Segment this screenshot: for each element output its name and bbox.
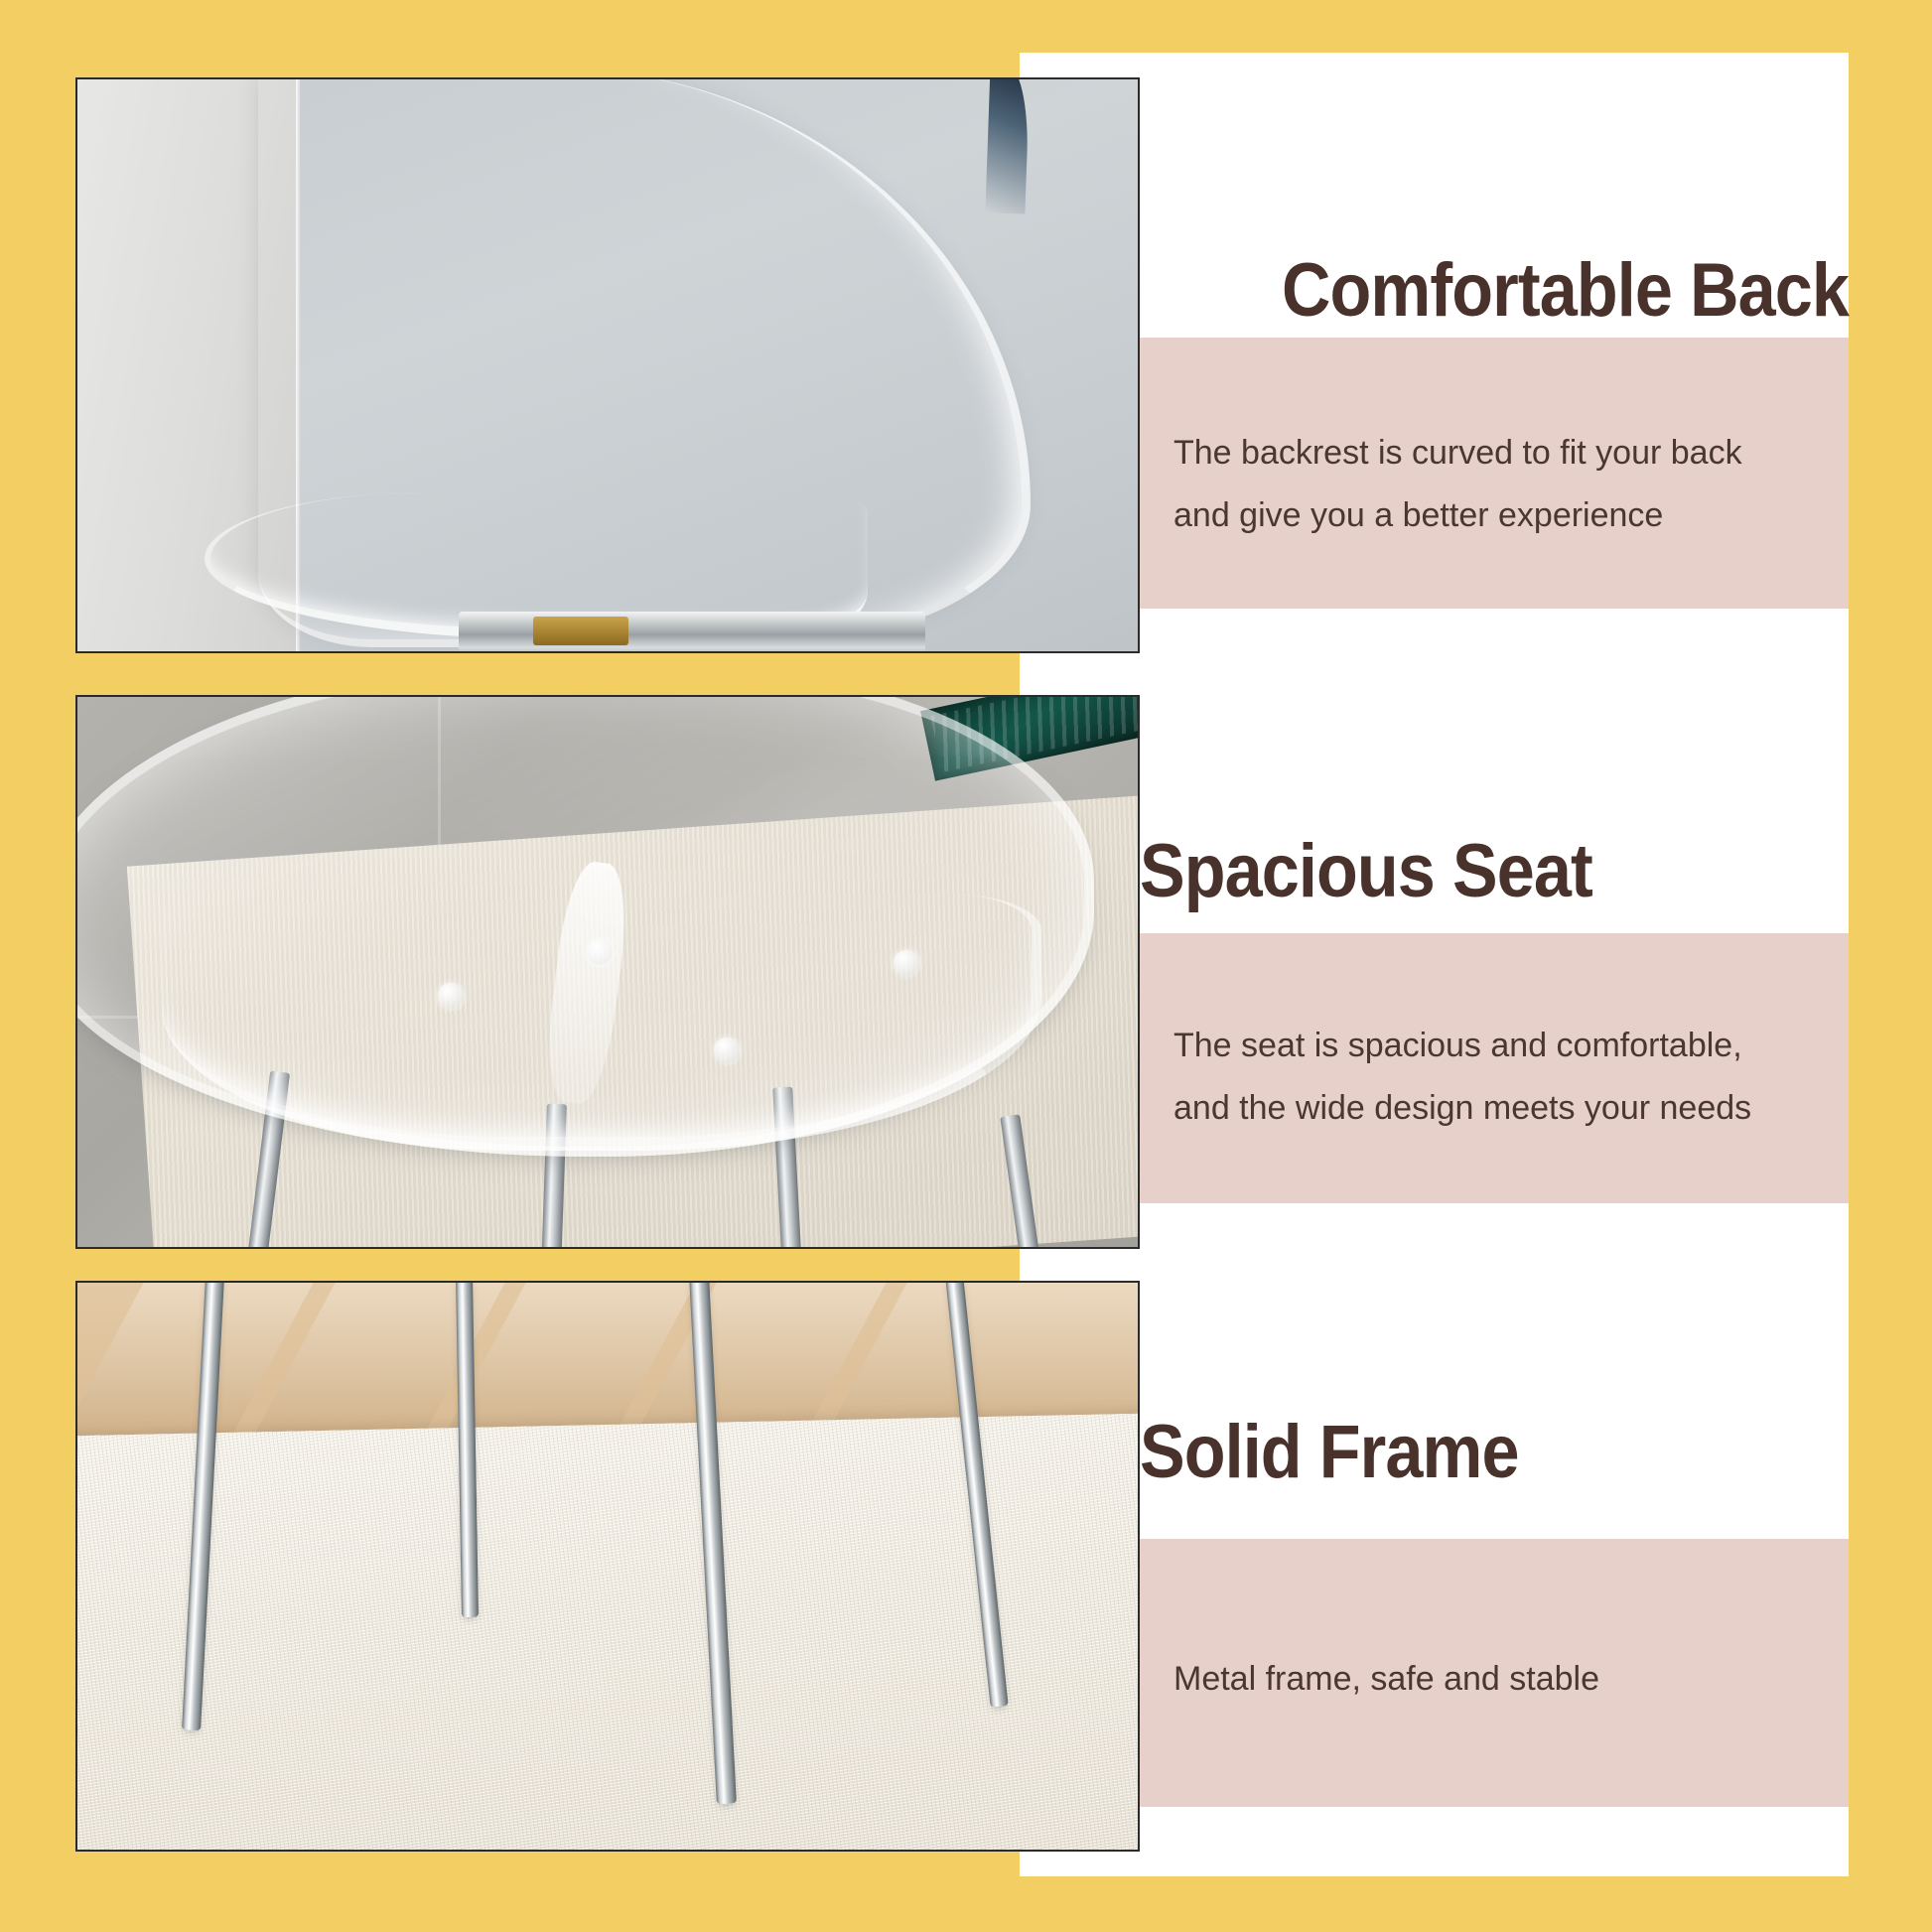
brass-hardware-shape	[533, 617, 628, 645]
seat-fastener-dot	[894, 950, 919, 976]
feature-photo-spacious-seat	[75, 695, 1140, 1249]
seat-fastener-dot	[438, 983, 464, 1009]
photo-2-scene	[77, 697, 1138, 1247]
photo-1-scene	[77, 79, 1138, 651]
yellow-band-3	[0, 1852, 1020, 1932]
yellow-band-2	[0, 1249, 1020, 1281]
feature-body-solid-frame: Metal frame, safe and stable	[1173, 1648, 1829, 1711]
yellow-band-1	[0, 653, 1020, 695]
feature-body-spacious-seat: The seat is spacious and comfortable, an…	[1173, 1015, 1829, 1140]
photo-3-scene	[77, 1283, 1138, 1850]
feature-title-spacious-seat: Spacious Seat	[1140, 834, 1778, 909]
feature-title-comfortable-back: Comfortable Back	[1210, 253, 1849, 329]
feature-title-solid-frame: Solid Frame	[1140, 1415, 1778, 1490]
feature-photo-solid-frame	[75, 1281, 1140, 1852]
infographic-page: Comfortable Back The backrest is curved …	[0, 0, 1932, 1932]
chrome-base-shape	[459, 612, 925, 653]
feature-body-comfortable-back: The backrest is curved to fit your back …	[1173, 422, 1829, 547]
feature-photo-comfortable-back	[75, 77, 1140, 653]
seat-fastener-dot	[587, 939, 613, 965]
